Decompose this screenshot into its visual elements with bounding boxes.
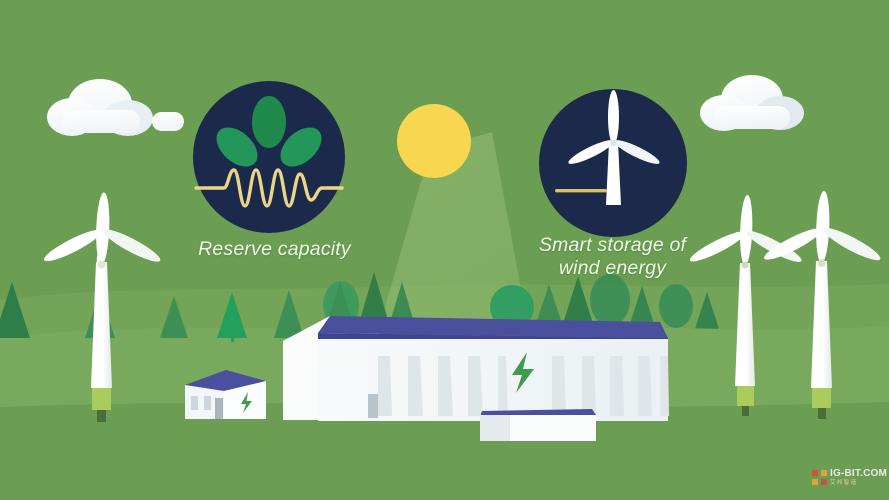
scene-illustration [0, 0, 889, 500]
badge-label-smart-storage: Smart storage of wind energy [505, 234, 720, 280]
watermark-sub-text: 艾邦智造 [830, 481, 887, 487]
four-square-logo-icon [812, 470, 827, 485]
badge-label-reserve-capacity: Reserve capacity [167, 238, 382, 261]
service-block [480, 409, 596, 441]
badge-reserve-capacity[interactable] [193, 81, 345, 233]
watermark-main-text: IG-BIT.COM [830, 469, 887, 479]
cloud-small-left [152, 112, 184, 131]
watermark-text: IG-BIT.COM 艾邦智造 [830, 469, 887, 486]
watermark: IG-BIT.COM 艾邦智造 [812, 469, 887, 486]
badge-rule-right [555, 189, 607, 192]
badge-smart-storage[interactable] [539, 89, 687, 237]
sun [397, 104, 471, 178]
facility-side-door [368, 394, 378, 418]
illustration-canvas: Reserve capacity Smart storage of wind e… [0, 0, 889, 500]
